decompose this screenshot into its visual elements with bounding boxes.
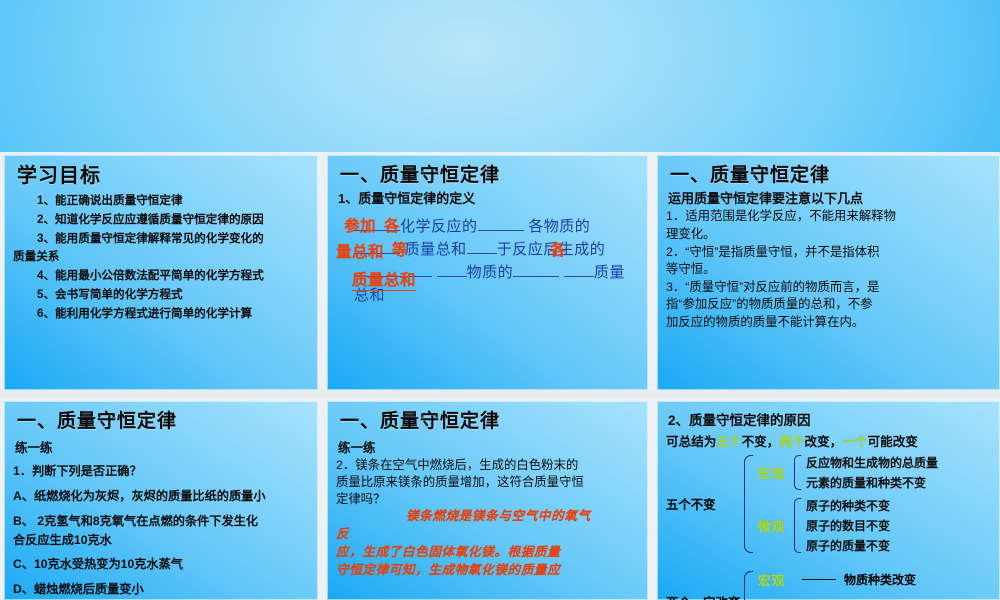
slide-thumb-reasons[interactable]: 2、质量守恒定律的原因 可总结为五个不变，两个改变，一个可能改变 五个不变 宏观… — [652, 398, 1000, 600]
slide-thumb-practice-2[interactable]: 一、质量守恒定律 练一练 2．镁条在空气中燃烧后，生成的白色粉末的 质量比原来镁… — [322, 398, 652, 600]
section-subtitle: 练一练 — [338, 437, 641, 456]
caution-line: 理变化。 — [666, 226, 993, 244]
slide-thumb-cautions[interactable]: 一、质量守恒定律 运用质量守恒定律要注意以下几点 1．适用范围是化学反应，不能用… — [652, 152, 1000, 390]
count-one: 一个 — [842, 435, 867, 449]
blank-8 — [564, 276, 594, 277]
group-two-changed: 两个一定改变 宏观 物质种类改变 微观 构成原物质的粒子一定改变 （变为构成生成… — [666, 570, 993, 600]
question-line: 定律吗？ — [336, 491, 641, 508]
count-five: 五个 — [716, 435, 741, 449]
def-seg: 质量总和 — [405, 241, 467, 258]
brace-small — [794, 455, 801, 490]
count-two: 两个 — [779, 435, 804, 449]
answer-overlay: 等 — [392, 238, 408, 260]
page-title: 一、质量守恒定律 — [17, 411, 311, 433]
caution-line: 等守恒。 — [666, 261, 993, 279]
row-gap-divider — [0, 390, 1000, 398]
option-d: D、蜡烛燃烧后质量变小 — [13, 580, 311, 599]
connector-line-icon — [802, 579, 836, 580]
page-title: 学习目标 — [17, 165, 311, 188]
brace-large — [744, 455, 753, 553]
def-seg: 物质的 — [467, 264, 514, 281]
objective-item-cont: 质量关系 — [13, 248, 311, 267]
micro-subgroup: 微观 原子的种类不变 原子的数目不变 原子的质量不变 — [758, 497, 938, 554]
blank-4 — [467, 253, 497, 254]
objective-item: 6、能利用化学方程式进行简单的化学计算 — [37, 305, 311, 324]
micro-item: 原子的数目不变 — [806, 517, 890, 534]
summary-prefix: 可总结为 — [666, 435, 716, 449]
def-seg: 物质的 — [544, 218, 591, 235]
page-title: 一、质量守恒定律 — [340, 411, 641, 433]
question-line: 2．镁条在空气中燃烧后，生成的白色粉末的 — [336, 457, 641, 474]
question-text: 1．判断下列是否正确？ — [13, 462, 311, 481]
objective-item: 5、会书写简单的化学方程式 — [37, 286, 311, 305]
objective-item: 3、能用质量守恒定律解释常见的化学变化的 — [37, 230, 311, 249]
caution-line: 1．适用范围是化学反应，不能用来解释物 — [666, 208, 993, 226]
handwritten-line: 应，生成了白色固体氧化镁。根据质量 — [336, 544, 641, 562]
page-title: 一、质量守恒定律 — [670, 165, 993, 187]
macro-item: 元素的质量和种类不变 — [806, 474, 938, 491]
handwritten-line: 反 — [336, 526, 641, 544]
answer-overlay: 参加 — [344, 214, 376, 236]
brace-small — [794, 498, 801, 553]
slide-thumb-learning-objectives[interactable]: 学习目标 1、能正确说出质量守恒定律 2、知道化学反应应遵循质量守恒定律的原因 … — [0, 152, 322, 390]
option-a: A、纸燃烧化为灰烬，灰烬的质量比纸的质量小 — [13, 487, 311, 506]
slide-thumb-practice-1[interactable]: 一、质量守恒定律 练一练 1．判断下列是否正确？ A、纸燃烧化为灰烬，灰烬的质量… — [0, 398, 322, 600]
slide-thumb-definition[interactable]: 一、质量守恒定律 1、质量守恒定律的定义 化学反应的 各物质的 质量总和于反应后… — [322, 152, 652, 390]
brace-large — [744, 571, 753, 600]
page-title: 2、质量守恒定律的原因 — [668, 413, 993, 429]
handwritten-answer: 镁条燃烧是镁条与空气中的氧气 反 应，生成了白色固体氧化镁。根据质量 守恒定律可… — [336, 508, 641, 580]
summary-line: 可总结为五个不变，两个改变，一个可能改变 — [666, 431, 993, 450]
summary-mid2: 改变， — [805, 435, 843, 449]
option-b: B、 2克氢气和8克氧气在点燃的条件下发生化 — [13, 512, 311, 531]
macro-item: 物质种类改变 — [844, 571, 916, 588]
blank-6 — [437, 276, 467, 277]
slide-thumbnail-grid: 学习目标 1、能正确说出质量守恒定律 2、知道化学反应应遵循质量守恒定律的原因 … — [0, 0, 1000, 600]
micro-item: 原子的种类不变 — [806, 497, 890, 514]
caution-line: 2．“守恒”是指质量守恒，并不是指体积 — [666, 244, 993, 262]
handwritten-line: 守恒定律可知，生成物氧化镁的质量应 — [336, 562, 641, 580]
caution-line: 3．“质量守恒”对反应前的物质而言，是 — [666, 279, 993, 297]
handwritten-line: 镁条燃烧是镁条与空气中的氧气 — [336, 508, 641, 526]
option-c: C、10克水受热变为10克水蒸气 — [13, 555, 311, 574]
micro-item: 原子的质量不变 — [806, 537, 890, 554]
group-label: 两个一定改变 — [666, 593, 744, 600]
summary-suffix: 可能改变 — [868, 435, 918, 449]
section-subtitle: 运用质量守恒定律要注意以下几点 — [668, 191, 993, 207]
top-empty-area — [0, 0, 1000, 152]
objective-item: 2、知道化学反应应遵循质量守恒定律的原因 — [37, 211, 311, 230]
answer-overlay: 量总和 — [336, 240, 384, 262]
micro-tag: 微观 — [758, 516, 794, 535]
group-five-unchanged: 五个不变 宏观 反应物和生成物的总质量 元素的质量和种类不变 微观 — [666, 454, 993, 554]
macro-tag: 宏观 — [758, 570, 794, 589]
macro-item: 反应物和生成物的总质量 — [806, 454, 938, 471]
blank-7 — [513, 276, 559, 277]
macro-subgroup: 宏观 反应物和生成物的总质量 元素的质量和种类不变 — [758, 454, 938, 491]
section-subtitle: 1、质量守恒定律的定义 — [338, 191, 641, 207]
caution-line: 加反应的物质的质量不能计算在内。 — [666, 314, 993, 332]
page-title: 一、质量守恒定律 — [340, 165, 641, 187]
question-line: 质量比原来镁条的质量增加，这符合质量守恒 — [336, 474, 641, 491]
answer-overlay: 各 — [384, 214, 400, 236]
def-seg: 各 — [528, 218, 544, 235]
option-b-cont: 合反应生成10克水 — [13, 531, 311, 550]
objective-item: 1、能正确说出质量守恒定律 — [37, 192, 311, 211]
fill-in-blank-definition: 化学反应的 各物质的 质量总和于反应后生成的 物质的 质量总和 参加 各 量总和… — [336, 212, 641, 312]
answer-overlay: 质量总和 — [352, 268, 416, 291]
section-subtitle: 练一练 — [15, 437, 311, 456]
macro-tag: 宏观 — [758, 463, 794, 482]
answer-overlay: 各 — [550, 238, 566, 260]
caution-line: 指“参加反应”的物质质量的总和，不参 — [666, 296, 993, 314]
summary-mid1: 不变， — [742, 435, 780, 449]
group-label: 五个不变 — [666, 495, 744, 513]
objective-item: 4、能用最小公倍数法配平简单的化学方程式 — [37, 267, 311, 286]
blank-2 — [478, 230, 524, 231]
def-seg: 化学反应的 — [400, 218, 478, 235]
